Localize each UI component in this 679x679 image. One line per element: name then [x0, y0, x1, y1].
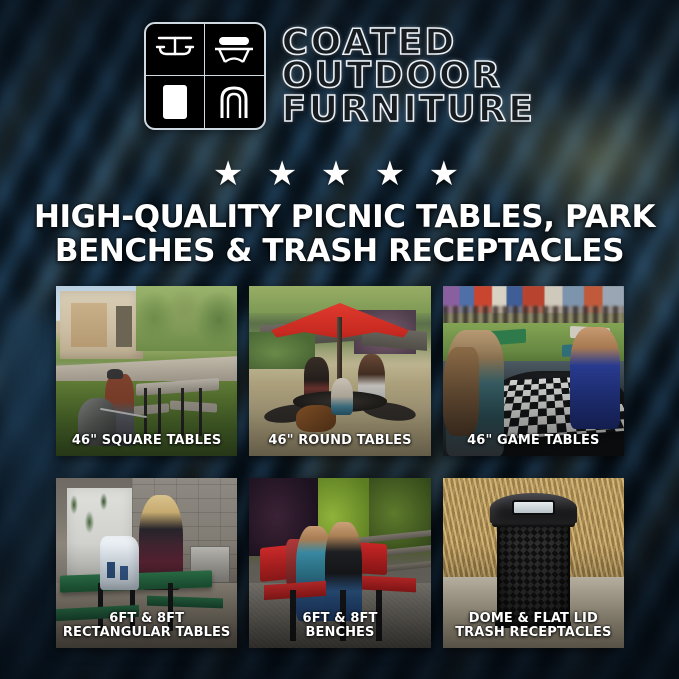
tile-caption-line-1: 46" GAME TABLES — [447, 434, 620, 448]
wordmark-line-furniture: FURNITURE — [282, 93, 536, 126]
tile-caption: 6FT & 8FT BENCHES — [253, 612, 426, 640]
tile-caption: 6FT & 8FT RECTANGULAR TABLES — [60, 612, 233, 640]
tile-caption-line-1: 6FT & 8FT — [60, 612, 233, 626]
product-grid: 46" SQUARE TABLES 46" ROUND TABLES — [56, 286, 624, 648]
trash-receptacle-icon — [146, 76, 205, 128]
tile-caption-line-1: 46" SQUARE TABLES — [60, 434, 233, 448]
tile-caption-line-2: TRASH RECEPTACLES — [447, 626, 620, 640]
product-tile-round-tables[interactable]: 46" ROUND TABLES — [249, 286, 430, 456]
picnic-table-icon — [146, 24, 205, 76]
tile-caption-line-2: RECTANGULAR TABLES — [60, 626, 233, 640]
brand-lockup: COATED OUTDOOR FURNITURE — [0, 22, 679, 130]
tile-caption: 46" GAME TABLES — [447, 434, 620, 448]
tile-caption: DOME & FLAT LID TRASH RECEPTACLES — [447, 612, 620, 640]
product-tile-benches[interactable]: 6FT & 8FT BENCHES — [249, 478, 430, 648]
tile-caption: 46" SQUARE TABLES — [60, 434, 233, 448]
promotional-banner: COATED OUTDOOR FURNITURE ★ ★ ★ ★ ★ HIGH-… — [0, 0, 679, 679]
headline-line-1: HIGH-QUALITY PICNIC TABLES, PARK — [34, 200, 645, 234]
five-star-rating: ★ ★ ★ ★ ★ — [0, 157, 679, 191]
park-bench-icon — [205, 24, 264, 76]
tile-caption-line-1: DOME & FLAT LID — [447, 612, 620, 626]
banner-content: COATED OUTDOOR FURNITURE ★ ★ ★ ★ ★ HIGH-… — [0, 0, 679, 679]
product-tile-square-tables[interactable]: 46" SQUARE TABLES — [56, 286, 237, 456]
tile-caption: 46" ROUND TABLES — [253, 434, 426, 448]
product-tile-rectangular-tables[interactable]: 6FT & 8FT RECTANGULAR TABLES — [56, 478, 237, 648]
brand-wordmark: COATED OUTDOOR FURNITURE — [282, 26, 536, 126]
headline-line-2: BENCHES & TRASH RECEPTACLES — [34, 234, 645, 268]
brand-logo-mark — [144, 22, 266, 130]
tile-caption-line-1: 6FT & 8FT — [253, 612, 426, 626]
tile-caption-line-1: 46" ROUND TABLES — [253, 434, 426, 448]
product-tile-game-tables[interactable]: 46" GAME TABLES — [443, 286, 624, 456]
product-tile-trash-receptacles[interactable]: DOME & FLAT LID TRASH RECEPTACLES — [443, 478, 624, 648]
headline: HIGH-QUALITY PICNIC TABLES, PARK BENCHES… — [34, 200, 645, 269]
bike-rack-icon — [205, 76, 264, 128]
tile-caption-line-2: BENCHES — [253, 626, 426, 640]
wordmark-line-outdoor: OUTDOOR — [282, 59, 503, 92]
